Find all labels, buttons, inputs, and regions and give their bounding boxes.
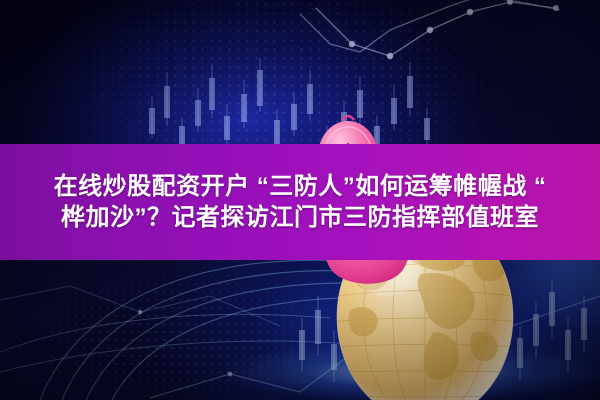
banner-image: $ $ 在线炒股配资开户 “三防人”如何运筹帷幄战 “ 桦加沙”？记者探访江门市… — [0, 0, 600, 400]
headline-line-1: 在线炒股配资开户 “三防人”如何运筹帷幄战 “ — [54, 171, 547, 202]
headline-line-2: 桦加沙”？记者探访江门市三防指挥部值班室 — [61, 202, 539, 233]
headline-band: 在线炒股配资开户 “三防人”如何运筹帷幄战 “ 桦加沙”？记者探访江门市三防指挥… — [0, 144, 600, 260]
